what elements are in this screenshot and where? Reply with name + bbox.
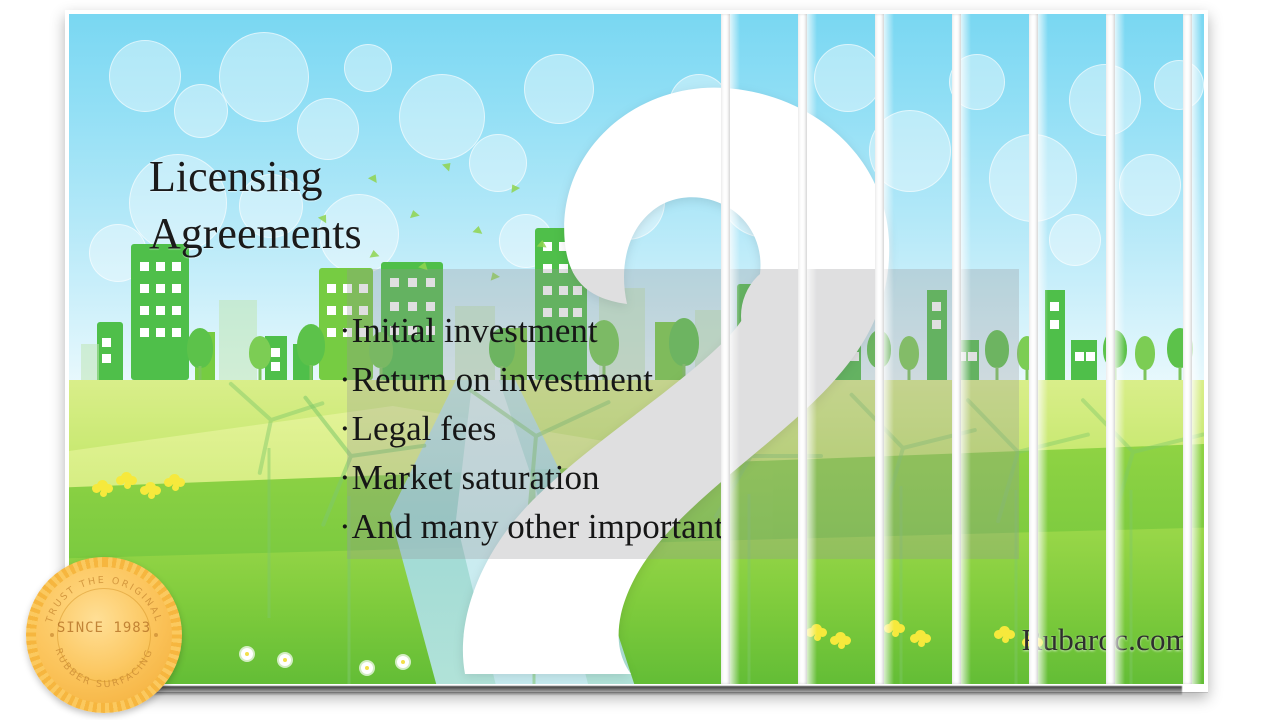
slide-content-area: Licensing Agreements ·Initial investment… (69, 14, 1204, 684)
badge-bottom-arc-label: RUBBER SURFACING (53, 647, 156, 691)
panel-divider (721, 14, 730, 684)
panel-sheen (884, 14, 894, 684)
slide-canvas: Licensing Agreements ·Initial investment… (0, 0, 1280, 720)
panel-sheen (1115, 14, 1125, 684)
trust-badge: TRUST THE ORIGINAL RUBBER SURFACING SINC… (26, 557, 182, 713)
panel-divider (952, 14, 961, 684)
panel-divider (1183, 14, 1192, 684)
slide-drop-shadow (92, 686, 1182, 695)
badge-top-arc-text: TRUST THE ORIGINAL (44, 575, 164, 625)
panel-sheen (1038, 14, 1048, 684)
badge-center-text: SINCE 1983 (26, 620, 182, 636)
panel-sheen (807, 14, 817, 684)
panel-divider (875, 14, 884, 684)
panel-divider (1106, 14, 1115, 684)
panel-sheen (961, 14, 971, 684)
panel-sheen (1192, 14, 1202, 684)
badge-bottom-arc-text: RUBBER SURFACING (53, 647, 156, 691)
panel-split-overlay (69, 14, 1204, 684)
panel-divider (1029, 14, 1038, 684)
badge-top-arc-label: TRUST THE ORIGINAL (44, 575, 164, 625)
panel-divider (798, 14, 807, 684)
slide-frame: Licensing Agreements ·Initial investment… (65, 10, 1208, 692)
panel-sheen (730, 14, 740, 684)
